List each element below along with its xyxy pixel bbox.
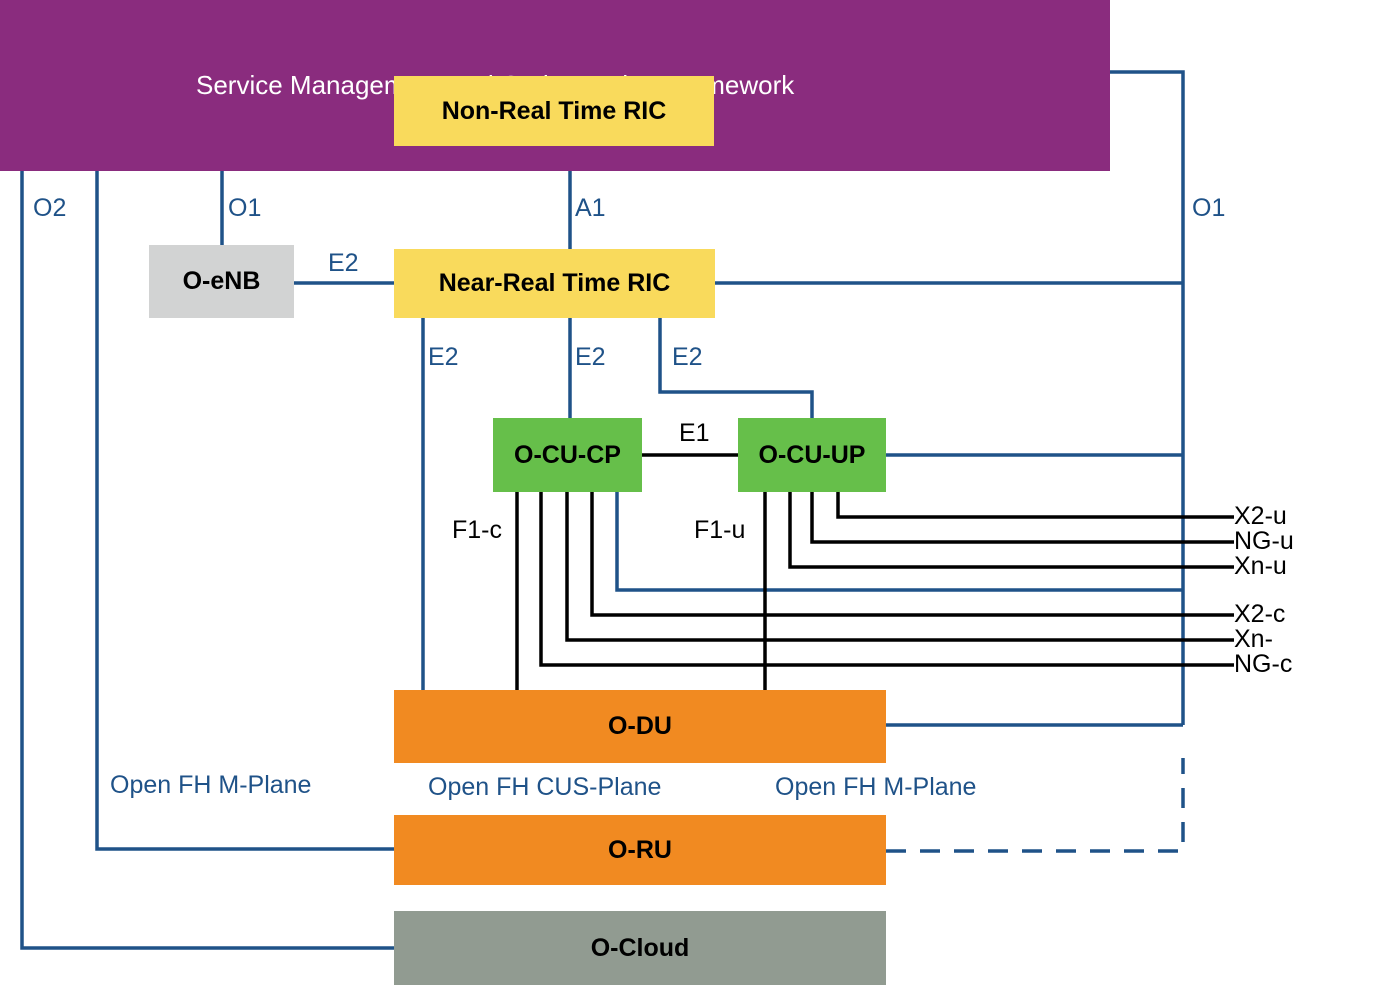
node-near-real-time-ric[interactable]: Near-Real Time RIC [394,249,715,318]
label-x2-c: X2-c [1234,602,1285,627]
oran-architecture-diagram: Service Management And Orchestration Fra… [0,0,1379,985]
label-open-fh-m-plane-right: Open FH M-Plane [775,775,976,800]
label-o1-left: O1 [228,196,261,221]
label-o2-left: O2 [33,196,66,221]
label-xn-c: Xn- [1234,627,1273,652]
o-cu-up-label: O-CU-UP [759,443,866,468]
node-o-enb[interactable]: O-eNB [149,245,294,318]
wire-x2-u [838,492,1234,517]
o-ru-label: O-RU [608,838,672,863]
o-cu-cp-label: O-CU-CP [514,443,621,468]
node-o-ru[interactable]: O-RU [394,815,886,885]
wire-oru-dashed [886,758,1183,851]
label-e2-ocucp: E2 [575,345,606,370]
label-e2-oenb: E2 [328,251,359,276]
node-o-cu-up[interactable]: O-CU-UP [738,418,886,492]
label-open-fh-cus-plane: Open FH CUS-Plane [428,775,661,800]
label-e2-ocuup: E2 [672,345,703,370]
wire-o1-right-trunk [1110,72,1183,725]
label-f1-c: F1-c [452,518,502,543]
label-e2-odu: E2 [428,345,459,370]
non-real-time-ric-label: Non-Real Time RIC [442,99,667,124]
label-a1: A1 [575,196,606,221]
node-o-du[interactable]: O-DU [394,690,886,763]
o-du-label: O-DU [608,714,672,739]
o-cloud-label: O-Cloud [591,936,690,961]
wire-x2-c [592,492,1234,615]
label-f1-u: F1-u [694,518,745,543]
o-enb-label: O-eNB [183,269,261,294]
label-x2-u: X2-u [1234,504,1287,529]
node-o-cu-cp[interactable]: O-CU-CP [493,418,642,492]
node-o-cloud[interactable]: O-Cloud [394,911,886,985]
label-o1-right: O1 [1192,196,1225,221]
label-xn-u: Xn-u [1234,554,1287,579]
label-ng-c: NG-c [1234,652,1292,677]
near-real-time-ric-label: Near-Real Time RIC [439,271,671,296]
wire-xn-u [790,492,1234,567]
node-non-real-time-ric[interactable]: Non-Real Time RIC [394,76,714,146]
label-open-fh-m-plane-left: Open FH M-Plane [110,773,311,798]
label-e1: E1 [679,421,710,446]
label-ng-u: NG-u [1234,529,1294,554]
